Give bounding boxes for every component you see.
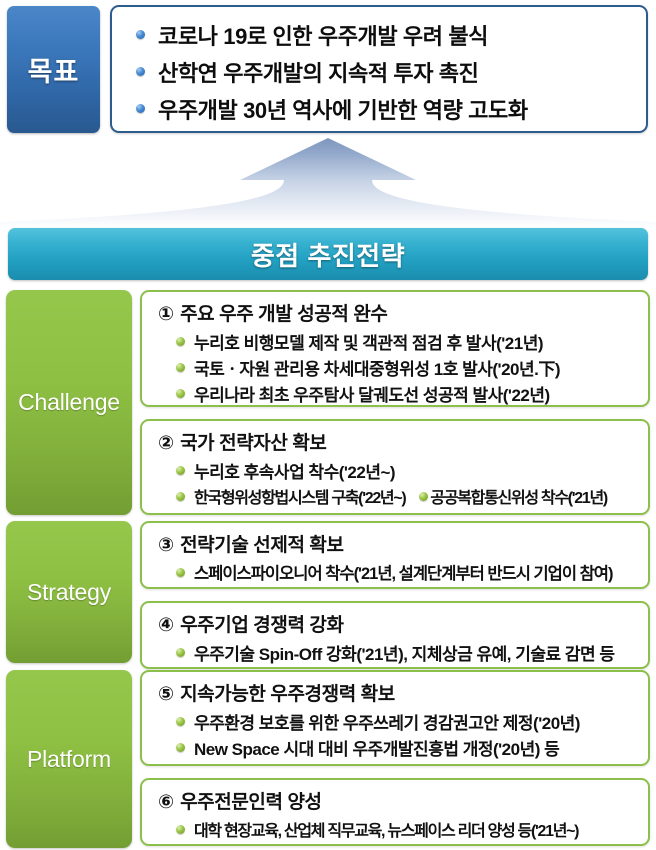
bullet-green-icon xyxy=(176,717,185,726)
strategy-card[interactable]: ④ 우주기업 경쟁력 강화 우주기술 Spin-Off 강화('21년), 지체… xyxy=(140,601,650,669)
category-panel-challenge[interactable]: Challenge xyxy=(6,290,132,515)
card-item-text: 우리나라 최초 우주탐사 달궤도선 성공적 발사('22년) xyxy=(194,381,550,406)
goal-box: 코로나 19로 인한 우주개발 우려 불식 산학연 우주개발의 지속적 투자 촉… xyxy=(110,5,648,133)
strategy-banner: 중점 추진전략 xyxy=(8,228,648,280)
card-header: ① 주요 우주 개발 성공적 완수 xyxy=(142,299,648,326)
bullet-green-icon xyxy=(176,492,185,501)
card-item: 우리나라 최초 우주탐사 달궤도선 성공적 발사('22년) xyxy=(142,380,648,406)
card-item-inline-text: 공공복합통신위성 착수('21년) xyxy=(430,484,607,508)
card-title: 우주기업 경쟁력 강화 xyxy=(180,610,343,637)
card-item-text: 우주기술 Spin-Off 강화('21년), 지체상금 유예, 기술료 감면 … xyxy=(194,640,614,665)
goal-bullet-row: 산학연 우주개발의 지속적 투자 촉진 xyxy=(112,53,646,90)
bullet-green-icon xyxy=(419,492,428,501)
card-item: New Space 시대 대비 우주개발진흥법 개정('20년) 등 xyxy=(142,734,648,760)
goal-badge: 목표 xyxy=(7,6,100,133)
card-item: 스페이스파이오니어 착수('21년, 설계단계부터 반드시 기업이 참여) xyxy=(142,559,648,585)
card-title: 전략기술 선제적 확보 xyxy=(180,530,343,557)
strategy-card[interactable]: ③ 전략기술 선제적 확보 스페이스파이오니어 착수('21년, 설계단계부터 … xyxy=(140,521,650,589)
bullet-green-icon xyxy=(176,337,185,346)
card-item: 누리호 후속사업 착수('22년~) xyxy=(142,457,648,483)
category-panel-strategy[interactable]: Strategy xyxy=(6,521,132,663)
card-item-text: 한국형위성항법시스템 구축('22년~) xyxy=(194,484,405,508)
card-item-text: 국토ㆍ자원 관리용 차세대중형위성 1호 발사('20년.下) xyxy=(194,355,560,380)
card-item: 우주환경 보호를 위한 우주쓰레기 경감권고안 제정('20년) xyxy=(142,708,648,734)
goal-bullet-row: 코로나 19로 인한 우주개발 우려 불식 xyxy=(112,16,646,53)
card-header: ⑥ 우주전문인력 양성 xyxy=(142,787,648,814)
card-item: 누리호 비행모델 제작 및 객관적 점검 후 발사('21년) xyxy=(142,328,648,354)
card-item-text: 누리호 비행모델 제작 및 객관적 점검 후 발사('21년) xyxy=(194,329,543,354)
goal-bullet-text: 코로나 19로 인한 우주개발 우려 불식 xyxy=(158,19,488,51)
strategy-card[interactable]: ⑥ 우주전문인력 양성 대학 현장교육, 산업체 직무교육, 뉴스페이스 리더 … xyxy=(140,778,650,846)
bullet-blue-icon xyxy=(136,104,145,113)
strategy-card[interactable]: ② 국가 전략자산 확보 누리호 후속사업 착수('22년~) 한국형위성항법시… xyxy=(140,419,650,515)
strategy-banner-title: 중점 추진전략 xyxy=(251,236,405,273)
card-number: ③ xyxy=(158,534,174,557)
card-number: ④ xyxy=(158,614,174,637)
card-header: ③ 전략기술 선제적 확보 xyxy=(142,530,648,557)
card-header: ⑤ 지속가능한 우주경쟁력 확보 xyxy=(142,679,648,706)
card-header: ④ 우주기업 경쟁력 강화 xyxy=(142,610,648,637)
bullet-green-icon xyxy=(176,825,185,834)
bullet-green-icon xyxy=(176,568,185,577)
goal-bullet-row: 우주개발 30년 역사에 기반한 역량 고도화 xyxy=(112,90,646,127)
bullet-green-icon xyxy=(176,363,185,372)
card-title: 지속가능한 우주경쟁력 확보 xyxy=(180,679,395,706)
card-title: 국가 전략자산 확보 xyxy=(180,428,326,455)
bullet-green-icon xyxy=(176,466,185,475)
goal-bullet-text: 산학연 우주개발의 지속적 투자 촉진 xyxy=(158,56,478,88)
category-label: Strategy xyxy=(27,579,111,606)
goal-badge-label: 목표 xyxy=(28,50,80,89)
card-header: ② 국가 전략자산 확보 xyxy=(142,428,648,455)
card-item-text: 우주환경 보호를 위한 우주쓰레기 경감권고안 제정('20년) xyxy=(194,709,580,734)
category-label: Platform xyxy=(27,746,111,773)
goal-section: 목표 코로나 19로 인한 우주개발 우려 불식 산학연 우주개발의 지속적 투… xyxy=(0,0,656,140)
card-item: 한국형위성항법시스템 구축('22년~) 공공복합통신위성 착수('21년) xyxy=(142,483,648,509)
card-item: 대학 현장교육, 산업체 직무교육, 뉴스페이스 리더 양성 등('21년~) xyxy=(142,816,648,842)
card-title: 주요 우주 개발 성공적 완수 xyxy=(180,299,387,326)
upward-arrow xyxy=(0,136,656,228)
strategy-card[interactable]: ① 주요 우주 개발 성공적 완수 누리호 비행모델 제작 및 객관적 점검 후… xyxy=(140,290,650,407)
bullet-green-icon xyxy=(176,389,185,398)
card-item: 우주기술 Spin-Off 강화('21년), 지체상금 유예, 기술료 감면 … xyxy=(142,639,648,665)
bullet-blue-icon xyxy=(136,67,145,76)
strategy-card[interactable]: ⑤ 지속가능한 우주경쟁력 확보 우주환경 보호를 위한 우주쓰레기 경감권고안… xyxy=(140,670,650,766)
card-item-text: 누리호 후속사업 착수('22년~) xyxy=(194,458,395,483)
card-number: ② xyxy=(158,432,174,455)
bullet-green-icon xyxy=(176,743,185,752)
card-item-text: 대학 현장교육, 산업체 직무교육, 뉴스페이스 리더 양성 등('21년~) xyxy=(194,817,578,841)
card-title: 우주전문인력 양성 xyxy=(180,787,322,814)
bullet-blue-icon xyxy=(136,30,145,39)
bullet-green-icon xyxy=(176,648,185,657)
card-item-text: New Space 시대 대비 우주개발진흥법 개정('20년) 등 xyxy=(194,735,559,760)
card-number: ⑥ xyxy=(158,791,174,814)
card-item: 국토ㆍ자원 관리용 차세대중형위성 1호 발사('20년.下) xyxy=(142,354,648,380)
category-label: Challenge xyxy=(18,389,120,416)
card-number: ⑤ xyxy=(158,683,174,706)
category-panel-platform[interactable]: Platform xyxy=(6,670,132,848)
card-item-inline-extra: 공공복합통신위성 착수('21년) xyxy=(419,484,607,508)
card-number: ① xyxy=(158,303,174,326)
card-item-text: 스페이스파이오니어 착수('21년, 설계단계부터 반드시 기업이 참여) xyxy=(194,560,612,584)
goal-bullet-text: 우주개발 30년 역사에 기반한 역량 고도화 xyxy=(158,93,528,125)
